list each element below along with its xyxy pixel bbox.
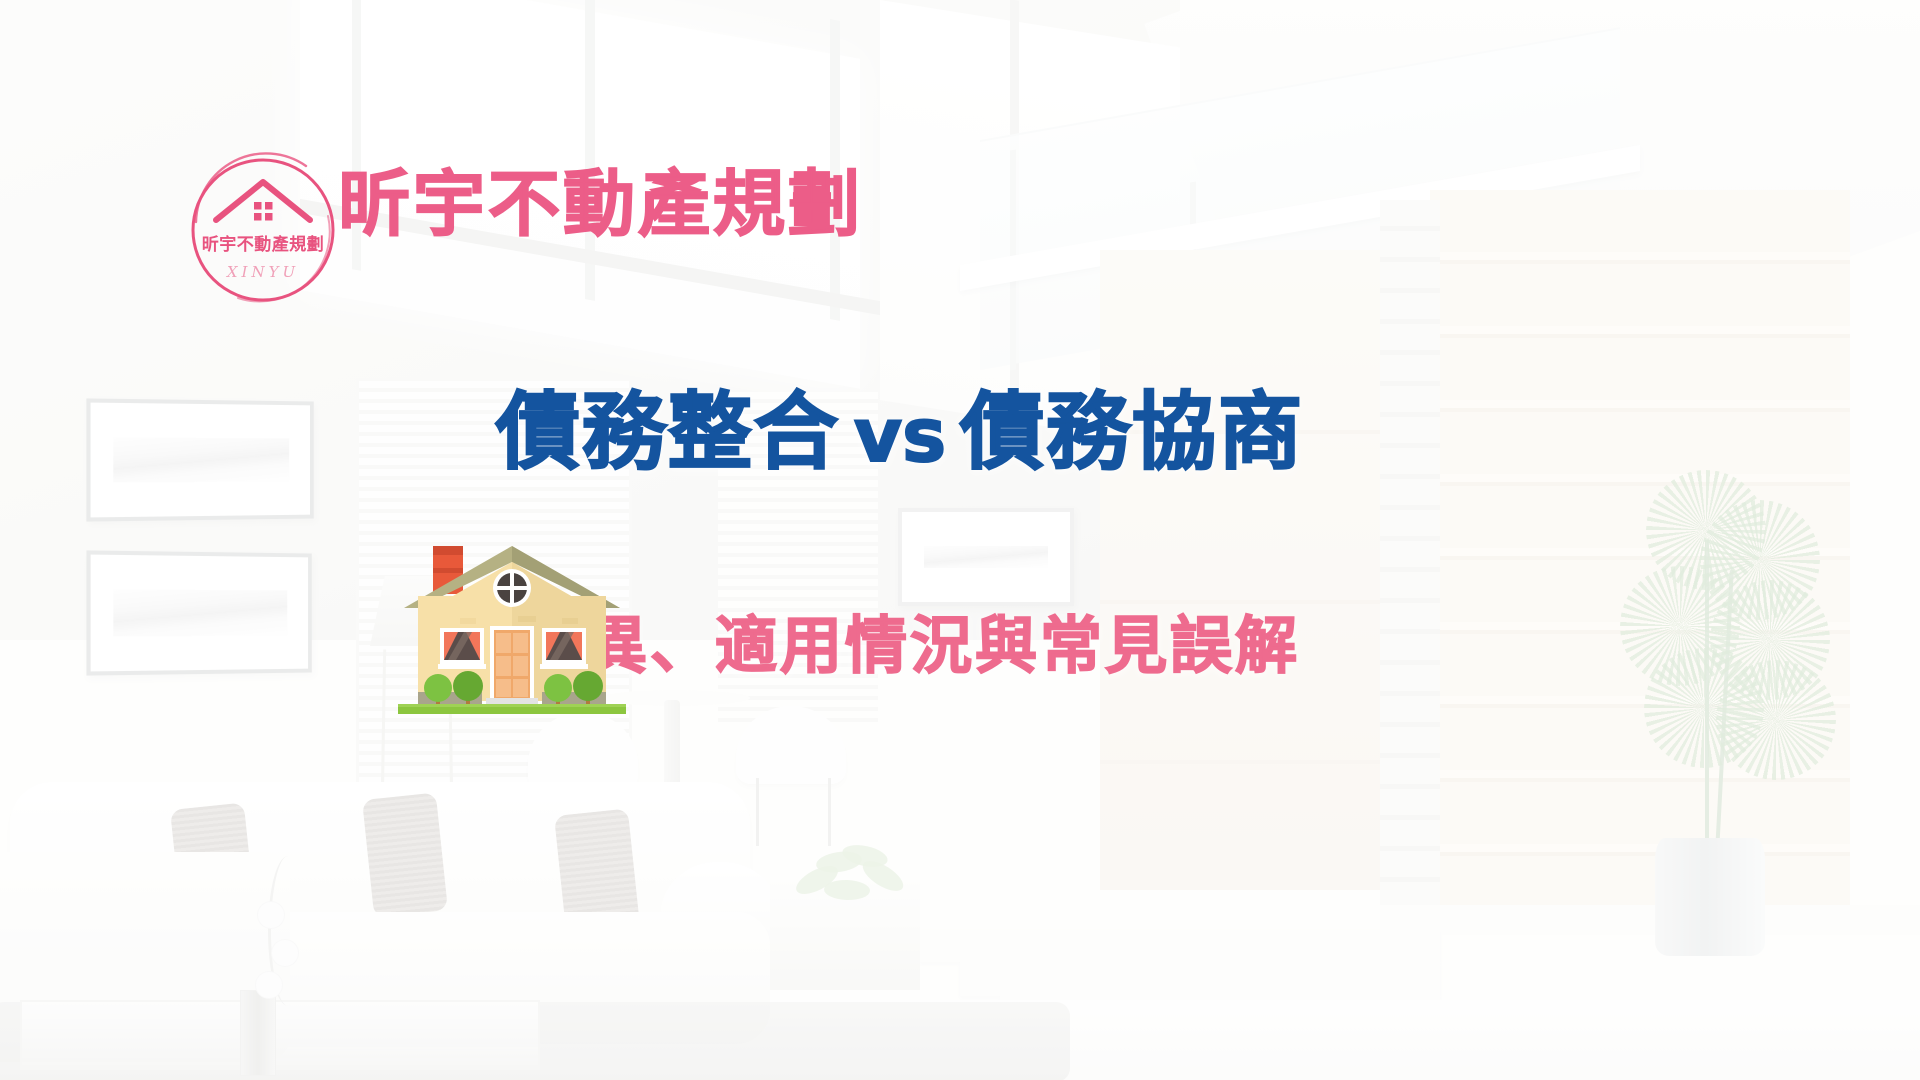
attic-window-mullion: [497, 586, 527, 590]
wall-accent: [562, 618, 578, 624]
headline-right: 債務協商: [960, 383, 1304, 481]
bush: [424, 674, 452, 702]
window-sill: [540, 664, 588, 669]
brand-wordmark: 昕宇不動產規劃: [338, 168, 863, 240]
logo-window-pane: [265, 202, 273, 210]
slide-content: 昕宇不動產規劃 XINYU 昕宇不動產規劃 債務整合vs債務協商 差異、適用情況…: [0, 0, 1920, 1080]
door-panel: [496, 633, 511, 653]
door-panel: [496, 679, 511, 697]
wall-accent: [518, 616, 536, 622]
house-svg: [396, 518, 628, 716]
bush: [573, 671, 603, 701]
chimney-cap: [433, 546, 463, 555]
logo-script-text: XINYU: [226, 263, 299, 281]
page-subtitle: 差異、適用情況與常見誤解: [0, 612, 1920, 680]
page-title: 債務整合vs債務協商: [0, 388, 1920, 476]
chimney-band: [433, 568, 463, 573]
door-panel: [513, 656, 528, 676]
brand-logo-stamp[interactable]: 昕宇不動產規劃 XINYU: [178, 150, 348, 310]
house-illustration: [396, 518, 628, 716]
door-panel: [513, 633, 528, 653]
logo-window-pane: [254, 202, 262, 210]
logo-inner-text: 昕宇不動產規劃: [202, 234, 325, 255]
logo-window-pane: [254, 213, 262, 221]
grass-highlight: [398, 704, 626, 707]
window-sill: [438, 664, 486, 669]
logo-circle-sketch: [238, 216, 330, 301]
headline-left: 債務整合: [496, 383, 840, 481]
logo-svg: 昕宇不動產規劃 XINYU: [178, 150, 348, 310]
wall-accent: [460, 618, 476, 624]
bush: [453, 671, 483, 701]
door-panel: [496, 656, 511, 676]
bush: [544, 674, 572, 702]
headline-vs: vs: [840, 393, 960, 479]
door-panel: [513, 679, 528, 697]
house-roof-icon: [216, 182, 310, 220]
logo-window-pane: [265, 213, 273, 221]
